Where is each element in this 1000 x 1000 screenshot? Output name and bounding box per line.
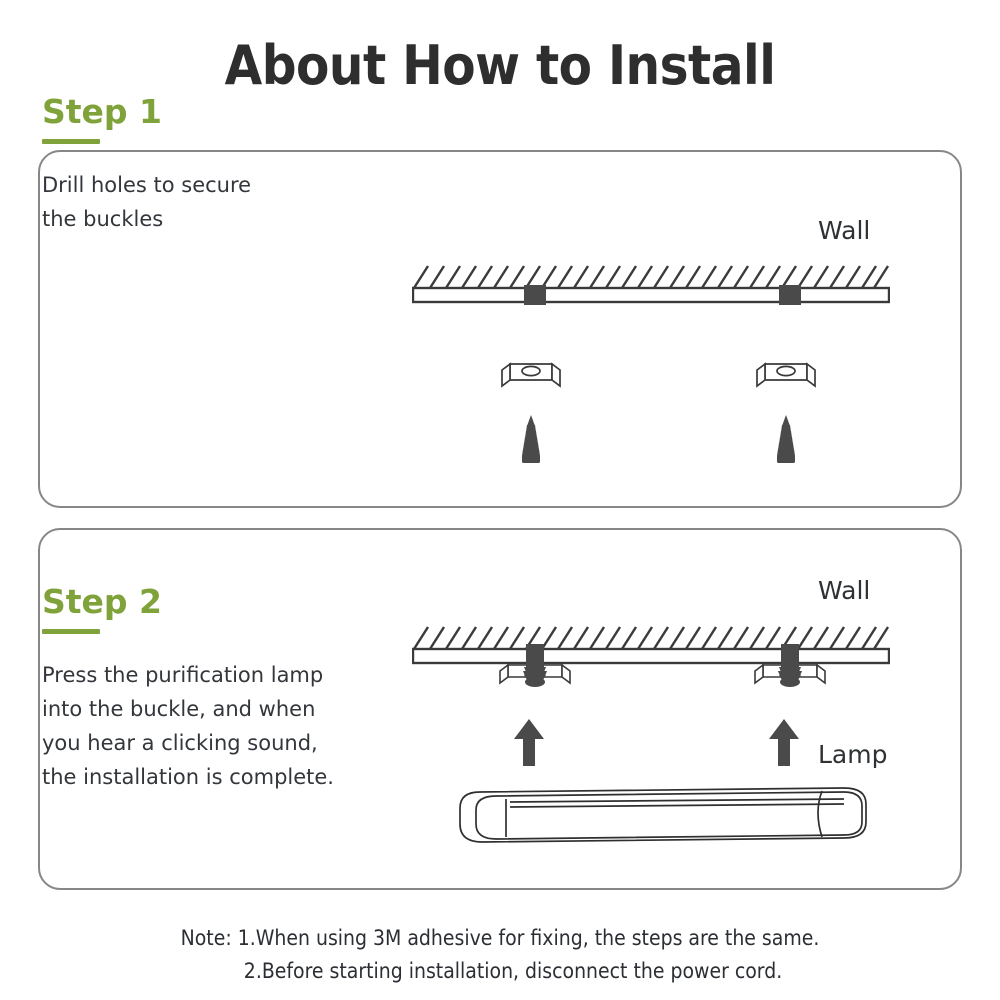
buckle-svg bbox=[755, 358, 817, 392]
buckle-left-step-1 bbox=[500, 358, 562, 396]
wall-diagram-step-2 bbox=[412, 613, 890, 695]
wall-svg bbox=[412, 252, 890, 308]
step-2-description: Press the purification lamp into the buc… bbox=[42, 658, 334, 794]
step-1-text-block: Step 1 Drill holes to secure the buckles bbox=[42, 95, 251, 236]
screw-right-step-1 bbox=[773, 414, 799, 472]
notes-block: Note: 1.When using 3M adhesive for fixin… bbox=[0, 922, 1000, 987]
step-2-accent-rule bbox=[42, 629, 100, 634]
drill-hole-right bbox=[779, 285, 801, 305]
arrow-up-left bbox=[512, 718, 546, 772]
wall-bar bbox=[413, 649, 889, 663]
note-line-1: Note: 1.When using 3M adhesive for fixin… bbox=[0, 922, 1000, 955]
note-line-2: 2.Before starting installation, disconne… bbox=[0, 955, 1000, 988]
buckle-svg bbox=[500, 358, 562, 392]
page-title: About How to Install bbox=[0, 34, 1000, 97]
step-1-accent-rule bbox=[42, 139, 100, 144]
arrow-up-icon bbox=[767, 718, 801, 768]
wall-label-step-2: Wall bbox=[818, 576, 870, 605]
screw-left-step-1 bbox=[518, 414, 544, 472]
wall-label-step-1: Wall bbox=[818, 216, 870, 245]
screw-svg bbox=[773, 414, 799, 468]
buckle-right-step-1 bbox=[755, 358, 817, 396]
step-1-description: Drill holes to secure the buckles bbox=[42, 168, 251, 236]
arrow-up-right bbox=[767, 718, 801, 772]
lamp-label: Lamp bbox=[818, 740, 887, 769]
wall-diagram-step-1 bbox=[412, 252, 890, 312]
step-2-title: Step 2 bbox=[42, 585, 334, 620]
screw-mounted-right bbox=[778, 644, 802, 687]
screw-svg bbox=[518, 414, 544, 468]
lamp-svg bbox=[452, 782, 872, 850]
step-1-title: Step 1 bbox=[42, 95, 251, 130]
wall-svg bbox=[412, 613, 890, 691]
wall-bar bbox=[413, 288, 889, 302]
drill-hole-left bbox=[524, 285, 546, 305]
screw-mounted-left bbox=[523, 644, 547, 687]
step-2-text-block: Step 2 Press the purification lamp into … bbox=[42, 585, 334, 794]
arrow-up-icon bbox=[512, 718, 546, 768]
lamp-fixture bbox=[452, 782, 872, 854]
